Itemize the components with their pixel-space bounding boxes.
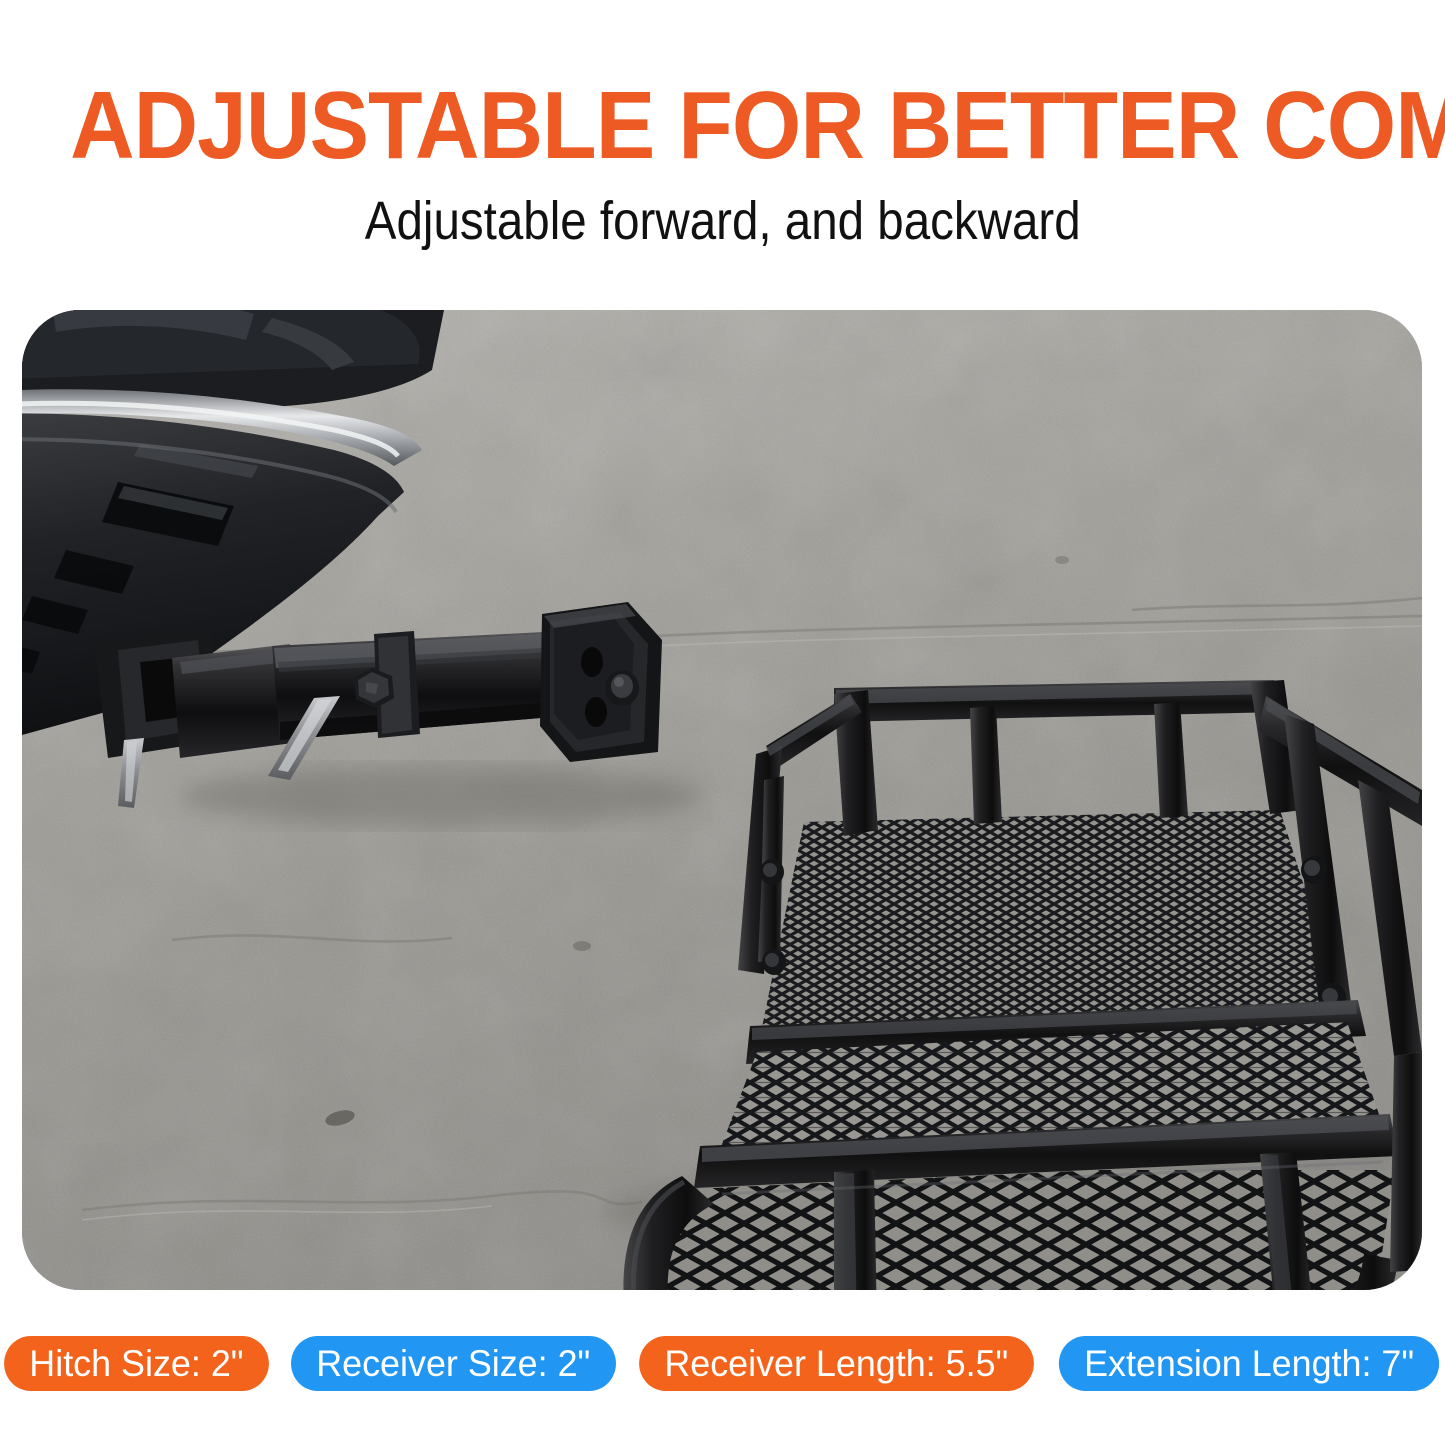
headline-container: ADJUSTABLE FOR BETTER COMPATIBILITY xyxy=(0,78,1445,174)
badge-receiver-length[interactable]: Receiver Length: 5.5" xyxy=(639,1336,1033,1391)
page-subtitle: Adjustable forward, and backward xyxy=(365,192,1081,250)
badge-hitch-size[interactable]: Hitch Size: 2" xyxy=(4,1336,269,1391)
subheadline-container: Adjustable forward, and backward xyxy=(0,192,1445,250)
page-title: ADJUSTABLE FOR BETTER COMPATIBILITY xyxy=(70,78,1445,174)
product-feature-banner: ADJUSTABLE FOR BETTER COMPATIBILITY Adju… xyxy=(0,0,1445,1445)
product-photo-illustration xyxy=(22,310,1422,1290)
product-photo xyxy=(22,310,1422,1290)
spec-badge-row: Hitch Size: 2" Receiver Size: 2" Receive… xyxy=(0,1336,1445,1391)
badge-extension-length[interactable]: Extension Length: 7" xyxy=(1059,1336,1439,1391)
badge-receiver-size[interactable]: Receiver Size: 2" xyxy=(291,1336,615,1391)
